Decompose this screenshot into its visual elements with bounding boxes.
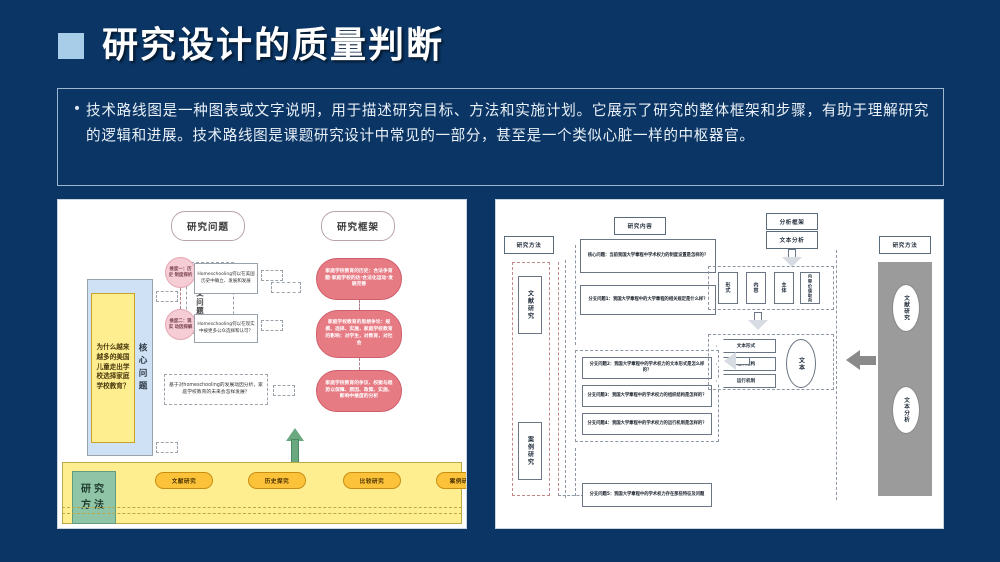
connector-line (575, 245, 577, 345)
right-header-analysis-framework: 分析框架 (766, 213, 818, 230)
dashed-arrow-icon (261, 320, 283, 331)
framework-box-1: 家庭学校教育的历史：合法争育题·家庭学校的达·合法化运动·发展完善 (316, 258, 402, 300)
slide-root: 研究设计的质量判断 • 技术路线图是一种图表或文字说明，用于描述研究目标、方法和… (0, 0, 1000, 562)
text-oval: 文本 (786, 339, 816, 388)
right-sub-question-5: 分支问题5：我国大学章程中的学术权力存在那些特征及问题 (582, 483, 712, 507)
divider (62, 513, 462, 514)
framework-box-3: 家庭学校教育的争议、权衡与趋势以保障、原因、政策、实施、影响中维度的分析 (316, 370, 402, 412)
body-bullet-marker: • (68, 98, 86, 122)
right-core-question-box: 核心问题：当前我国大学章程中学术权力的制度设置是怎样的？ (580, 239, 716, 273)
dashed-arrow-icon (261, 270, 283, 281)
connector-line (575, 448, 577, 496)
page-title: 研究设计的质量判断 (58, 28, 444, 64)
right-header-method-left: 研究方法 (504, 236, 554, 254)
page-title-text: 研究设计的质量判断 (102, 28, 444, 64)
right-sub-question-3: 分支问题3：我国大学章程中的学术权力的组织结构是怎样的？ (582, 385, 712, 407)
method-oval-text-analysis: 文本分析 (892, 386, 920, 434)
framework-cell-2: 内容 (746, 272, 766, 304)
framework-cell-4: 内容价值取向 (800, 272, 820, 304)
core-question-text: 为什么越来越多的美国儿童走出学校选择家庭学校教育？ (95, 343, 131, 392)
branch-box-2-text: Homeschooling何以在现实中被更多公众选择和认可？ (197, 322, 255, 335)
left-header-research-question: 研究问题 (171, 211, 245, 241)
right-sub-question-4-text: 分支问题4：我国大学章程中的学术权力的运行机制是怎样的？ (587, 421, 706, 427)
right-sub-question-2-text: 分支问题2：我国大学章程中的学术权力的文本形式是怎么样的？ (587, 362, 707, 374)
branch-box-2: Homeschooling何以在现实中被更多公众选择和认可？ (194, 314, 258, 343)
framework-box-1-text: 家庭学校教育的历史：合法争育题·家庭学校的达·合法化运动·发展完善 (325, 269, 393, 290)
dashed-arrow-icon (156, 442, 178, 453)
dashed-arrow-icon (271, 282, 301, 293)
future-question-text: 基于对homeschooling的发展动因分析，家庭学校教育的未来会怎样发展？ (167, 383, 265, 396)
framework-cell-1: 形式 (718, 272, 738, 304)
framework-cell-3: 主体 (774, 272, 794, 304)
future-question-box: 基于对homeschooling的发展动因分析，家庭学校教育的未来会怎样发展？ (164, 374, 268, 405)
down-arrow-icon (782, 249, 802, 267)
branch-circle-2-text: 维度二：现实 动因探解 (168, 319, 193, 331)
body-text-box: • 技术路线图是一种图表或文字说明，用于描述研究目标、方法和实施计划。它展示了研… (57, 88, 944, 186)
framework-box-3-text: 家庭学校教育的争议、权衡与趋势以保障、原因、政策、实施、影响中维度的分析 (325, 381, 393, 402)
research-method-label: 研究方法 (72, 471, 116, 524)
divider (62, 507, 462, 508)
divider (836, 250, 837, 500)
framework-box-2: 家庭学校教育的思想争论：规模、选择、实施，家庭学校教育的影响：对学生，对教育，对… (316, 310, 402, 358)
title-bullet-square (58, 33, 84, 59)
text-chevron-1: 文本形式 (716, 339, 776, 353)
connector-line (180, 288, 181, 309)
right-sub-question-5-text: 分支问题5：我国大学章程中的学术权力存在那些特征及问题 (590, 492, 705, 498)
text-chevron-3: 运行机制 (716, 374, 776, 388)
framework-box-2-text: 家庭学校教育的思想争论：规模、选择、实施，家庭学校教育的影响：对学生，对教育，对… (325, 320, 393, 348)
left-header-research-framework: 研究框架 (321, 211, 395, 241)
dashed-arrow-icon (156, 291, 178, 302)
method-pill-1: 文献研究 (155, 472, 213, 489)
left-arrow-icon (724, 352, 750, 370)
method-pill-3: 比较研究 (343, 472, 401, 489)
right-sub-question-1-text: 分支问题1：我国大学章程中的大学章程的相关规定是什么样？ (588, 297, 707, 303)
up-arrow-icon (286, 428, 304, 464)
core-question-box: 为什么越来越多的美国儿童走出学校选择家庭学校教育？ (91, 293, 135, 443)
branch-circle-1-text: 维度一：历史 制度探析 (168, 267, 193, 279)
right-header-text-analysis: 文本分析 (766, 231, 818, 249)
divider (565, 260, 566, 498)
connector-line (558, 495, 584, 496)
right-diagram-panel: 研究方法 研究内容 分析框架 文本分析 研究方法 文献研究 案例研究 核心问题：… (495, 199, 944, 529)
method-oval-literature: 文献研究 (892, 284, 920, 332)
right-sub-question-3-text: 分支问题3：我国大学章程中的学术权力的组织结构是怎样的？ (587, 393, 706, 399)
connector-line (359, 358, 360, 370)
core-question-label: 核心问题 (134, 298, 150, 438)
branch-box-1: Homeschooling何以在美国历史中确立、发展和发展 (194, 263, 258, 294)
method-pill-4: 案例研究 (436, 472, 467, 489)
branch-circle-1: 维度一：历史 制度探析 (165, 257, 196, 288)
branch-circle-2: 维度二：现实 动因探解 (165, 309, 196, 340)
right-sub-question-2: 分支问题2：我国大学章程中的学术权力的文本形式是怎么样的？ (582, 357, 712, 379)
method-box-literature: 文献研究 (518, 276, 542, 334)
right-sub-question-1: 分支问题1：我国大学章程中的大学章程的相关规定是什么样？ (580, 285, 716, 315)
right-core-question-text: 核心问题：当前我国大学章程中学术权力的制度设置是怎样的？ (588, 253, 708, 259)
down-arrow-icon (748, 312, 768, 330)
connector-line (359, 300, 360, 310)
body-paragraph: 技术路线图是一种图表或文字说明，用于描述研究目标、方法和实施计划。它展示了研究的… (86, 98, 929, 148)
left-diagram-panel: 研究问题 研究框架 为什么越来越多的美国儿童走出学校选择家庭学校教育？ 核心问题… (57, 199, 467, 529)
left-arrow-icon (846, 350, 876, 370)
right-sub-question-4: 分支问题4：我国大学章程中的学术权力的运行机制是怎样的？ (582, 413, 712, 435)
right-header-method-right: 研究方法 (879, 236, 931, 254)
right-header-content: 研究内容 (614, 217, 666, 235)
branch-box-1-text: Homeschooling何以在美国历史中确立、发展和发展 (197, 272, 255, 285)
method-pill-2: 历史探究 (248, 472, 306, 489)
dashed-arrow-icon (273, 385, 295, 396)
method-box-case: 案例研究 (518, 422, 542, 480)
